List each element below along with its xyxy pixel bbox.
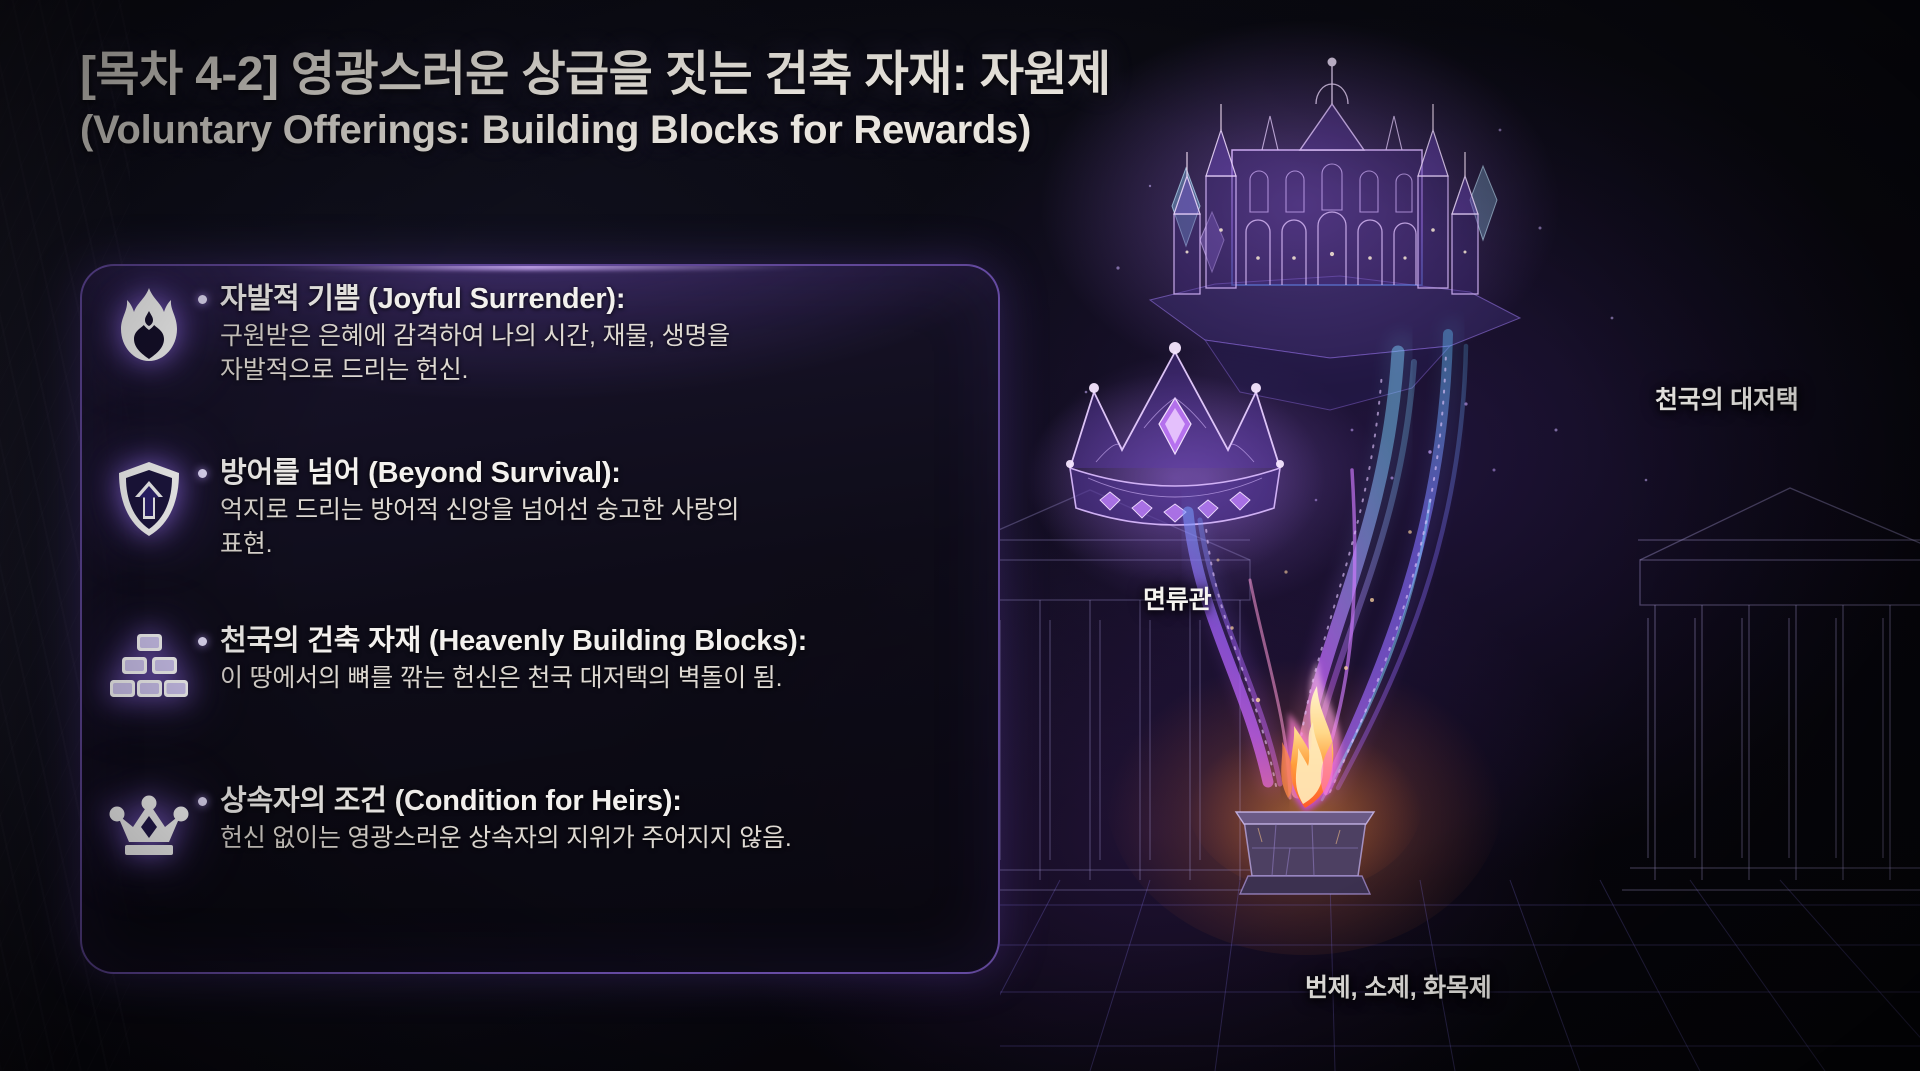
content-card: 자발적 기쁨 (Joyful Surrender): 구원받은 은혜에 감격하여… [80,264,1000,974]
flame-heart-icon [106,282,192,368]
bullet-dot-icon [198,797,207,806]
classical-temple-wireframe-right [1622,488,1920,890]
label-heavenly-mansion: 천국의 대저택 [1655,380,1799,416]
list-item-text: 방어를 넘어 (Beyond Survival): 억지로 드리는 방어적 신앙… [198,456,739,561]
list-item-text: 천국의 건축 자재 (Heavenly Building Blocks): 이 … [198,624,807,696]
bullet-dot-icon [198,637,207,646]
list-item-heading-wrap: 상속자의 조건 (Condition for Heirs): [198,784,792,819]
list-item-heading: 자발적 기쁨 (Joyful Surrender): [220,282,625,317]
list-item-heading-wrap: 자발적 기쁨 (Joyful Surrender): [198,282,730,317]
label-crown: 면류관 [1143,580,1211,616]
list-item-heading-wrap: 방어를 넘어 (Beyond Survival): [198,456,739,491]
list-item: 방어를 넘어 (Beyond Survival): 억지로 드리는 방어적 신앙… [106,456,986,561]
card-inner: 자발적 기쁨 (Joyful Surrender): 구원받은 은혜에 감격하여… [82,266,998,972]
list-item-text: 자발적 기쁨 (Joyful Surrender): 구원받은 은혜에 감격하여… [198,282,730,387]
bricks-icon [106,624,192,710]
list-item-body-line2: 자발적으로 드리는 헌신. [220,354,730,387]
list-item-body-line2: 표현. [220,528,739,561]
crown-icon [106,784,192,870]
list-item-body-line1: 이 땅에서의 뼈를 깎는 헌신은 천국 대저택의 벽돌이 됨. [220,662,807,695]
list-item: 천국의 건축 자재 (Heavenly Building Blocks): 이 … [106,624,986,710]
label-offerings: 번제, 소제, 화목제 [1305,968,1492,1004]
artwork-panel [1000,0,1920,1071]
list-item-heading: 천국의 건축 자재 (Heavenly Building Blocks): [220,624,807,659]
list-item: 자발적 기쁨 (Joyful Surrender): 구원받은 은혜에 감격하여… [106,282,986,387]
list-item-body-line1: 억지로 드리는 방어적 신앙을 넘어선 숭고한 사랑의 [220,494,739,527]
list-item-heading-wrap: 천국의 건축 자재 (Heavenly Building Blocks): [198,624,807,659]
list-item-text: 상속자의 조건 (Condition for Heirs): 헌신 없이는 영광… [198,784,792,856]
list-item: 상속자의 조건 (Condition for Heirs): 헌신 없이는 영광… [106,784,986,870]
list-item-heading: 방어를 넘어 (Beyond Survival): [220,456,621,491]
list-item-body-line1: 헌신 없이는 영광스러운 상속자의 지위가 주어지지 않음. [220,822,792,855]
list-item-heading: 상속자의 조건 (Condition for Heirs): [220,784,682,819]
slide-root: [목차 4-2] 영광스러운 상급을 짓는 건축 자재: 자원제 (Volunt… [0,0,1920,1071]
list-item-body-line1: 구원받은 은혜에 감격하여 나의 시간, 재물, 생명을 [220,320,730,353]
bullet-dot-icon [198,295,207,304]
shield-arrow-up-icon [106,456,192,542]
bullet-dot-icon [198,469,207,478]
